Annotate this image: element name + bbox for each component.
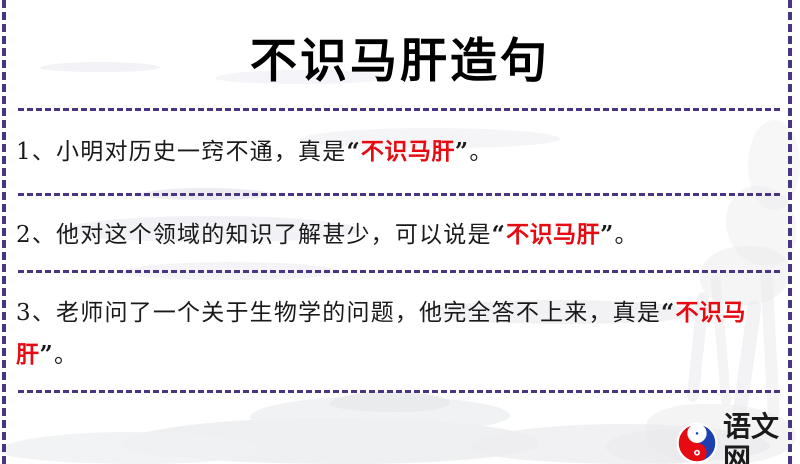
idiom-highlight-1: 不识马肝 (361, 138, 455, 165)
sentence-text-2: 他对这个领域的知识了解甚少，可以说是 (56, 222, 492, 248)
sentence-period-3: 。 (54, 342, 78, 368)
sentence-number-3: 3、 (16, 300, 56, 326)
idiom-highlight-2: 不识马肝 (506, 221, 600, 248)
sentence-item-2: 2、他对这个领域的知识了解甚少，可以说是“不识马肝”。 (16, 214, 778, 256)
sentence-item-1: 1、小明对历史一窍不通，真是“不识马肝”。 (16, 131, 778, 173)
page-title: 不识马肝造句 (0, 22, 800, 91)
divider-2 (18, 193, 780, 196)
sentence-text-3: 老师问了一个关于生物学的问题，他完全答不上来，真是 (56, 300, 661, 326)
close-quote-1: ” (455, 138, 469, 165)
sentence-period-1: 。 (469, 139, 493, 165)
divider-4 (18, 390, 780, 393)
worksheet-page: 不识马肝造句 1、小明对历史一窍不通，真是“不识马肝”。 2、他对这个领域的知识… (0, 0, 800, 464)
yinyang-logo-icon (676, 422, 718, 464)
sentence-number-2: 2、 (16, 222, 56, 248)
open-quote-2: “ (492, 221, 506, 248)
logo-text: 语文网 (723, 411, 800, 464)
divider-3 (18, 270, 780, 273)
open-quote-1: “ (346, 138, 360, 165)
close-quote-3: ” (40, 341, 54, 368)
close-quote-2: ” (600, 221, 614, 248)
open-quote-3: “ (661, 299, 675, 326)
site-logo[interactable]: 语文网 (676, 411, 800, 464)
sentence-number-1: 1、 (16, 139, 56, 165)
sentence-period-2: 。 (615, 222, 639, 248)
sentence-text-1: 小明对历史一窍不通，真是 (56, 139, 346, 165)
divider-1 (18, 108, 780, 111)
sentence-item-3: 3、老师问了一个关于生物学的问题，他完全答不上来，真是“不识马肝”。 (16, 292, 778, 376)
